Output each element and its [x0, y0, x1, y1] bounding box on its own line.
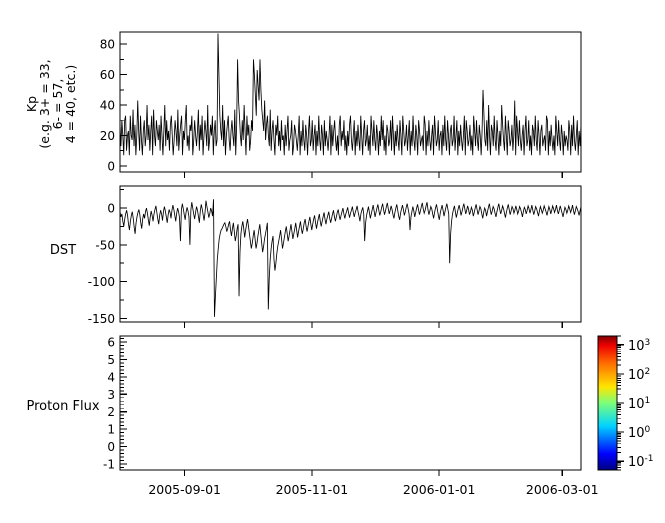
flux-ytick-label: 4	[107, 370, 115, 384]
colorbar-tick-label: 103	[628, 338, 650, 354]
plot-svg: 0204060800-50-100-150-101234562005-09-01…	[0, 0, 665, 523]
colorbar-tick-label: 102	[628, 367, 650, 383]
colorbar-tick-label: 100	[628, 425, 651, 441]
x-tick-label: 2005-09-01	[148, 482, 221, 497]
colorbar-gradient	[598, 336, 617, 470]
colorbar-tick-label: 10-1	[628, 454, 654, 470]
x-tick-label: 2006-01-01	[403, 482, 476, 497]
kp-ytick-label: 20	[100, 129, 115, 143]
flux-ytick-label: 6	[107, 336, 115, 350]
figure-root: 0204060800-50-100-150-101234562005-09-01…	[0, 0, 665, 523]
kp-axis-title: Kp(e.g. 3+ = 33,6- = 57,4 = 40, etc.)	[24, 59, 78, 148]
colorbar-tick-label: 101	[628, 396, 650, 412]
kp-ytick-label: 80	[100, 38, 115, 52]
kp-ytick-label: 60	[100, 68, 115, 82]
flux-ytick-label: 3	[107, 388, 115, 402]
flux-ytick-label: 1	[107, 423, 115, 437]
dst-axis-title: DST	[50, 243, 76, 258]
flux-ytick-label: 0	[107, 440, 115, 454]
proton-flux-panel-frame	[120, 336, 581, 470]
dst-ytick-label: -150	[88, 312, 115, 326]
kp-axis-title-line-3: 4 = 40, etc.)	[63, 65, 78, 144]
flux-ytick-label: -1	[103, 457, 115, 471]
flux-ytick-label: 5	[107, 353, 115, 367]
x-tick-label: 2006-03-01	[526, 482, 599, 497]
dst-ytick-label: -50	[95, 238, 115, 252]
flux-ytick-label: 2	[107, 405, 115, 419]
kp-panel-frame	[120, 32, 581, 172]
dst-ytick-label: -100	[88, 275, 115, 289]
dst-series-line	[120, 199, 581, 317]
dst-ytick-label: 0	[107, 202, 115, 216]
flux-axis-title: Proton Flux	[26, 399, 99, 414]
kp-ytick-label: 40	[100, 99, 115, 113]
kp-series-line	[120, 34, 581, 156]
x-tick-label: 2005-11-01	[276, 482, 349, 497]
kp-ytick-label: 0	[107, 159, 115, 173]
